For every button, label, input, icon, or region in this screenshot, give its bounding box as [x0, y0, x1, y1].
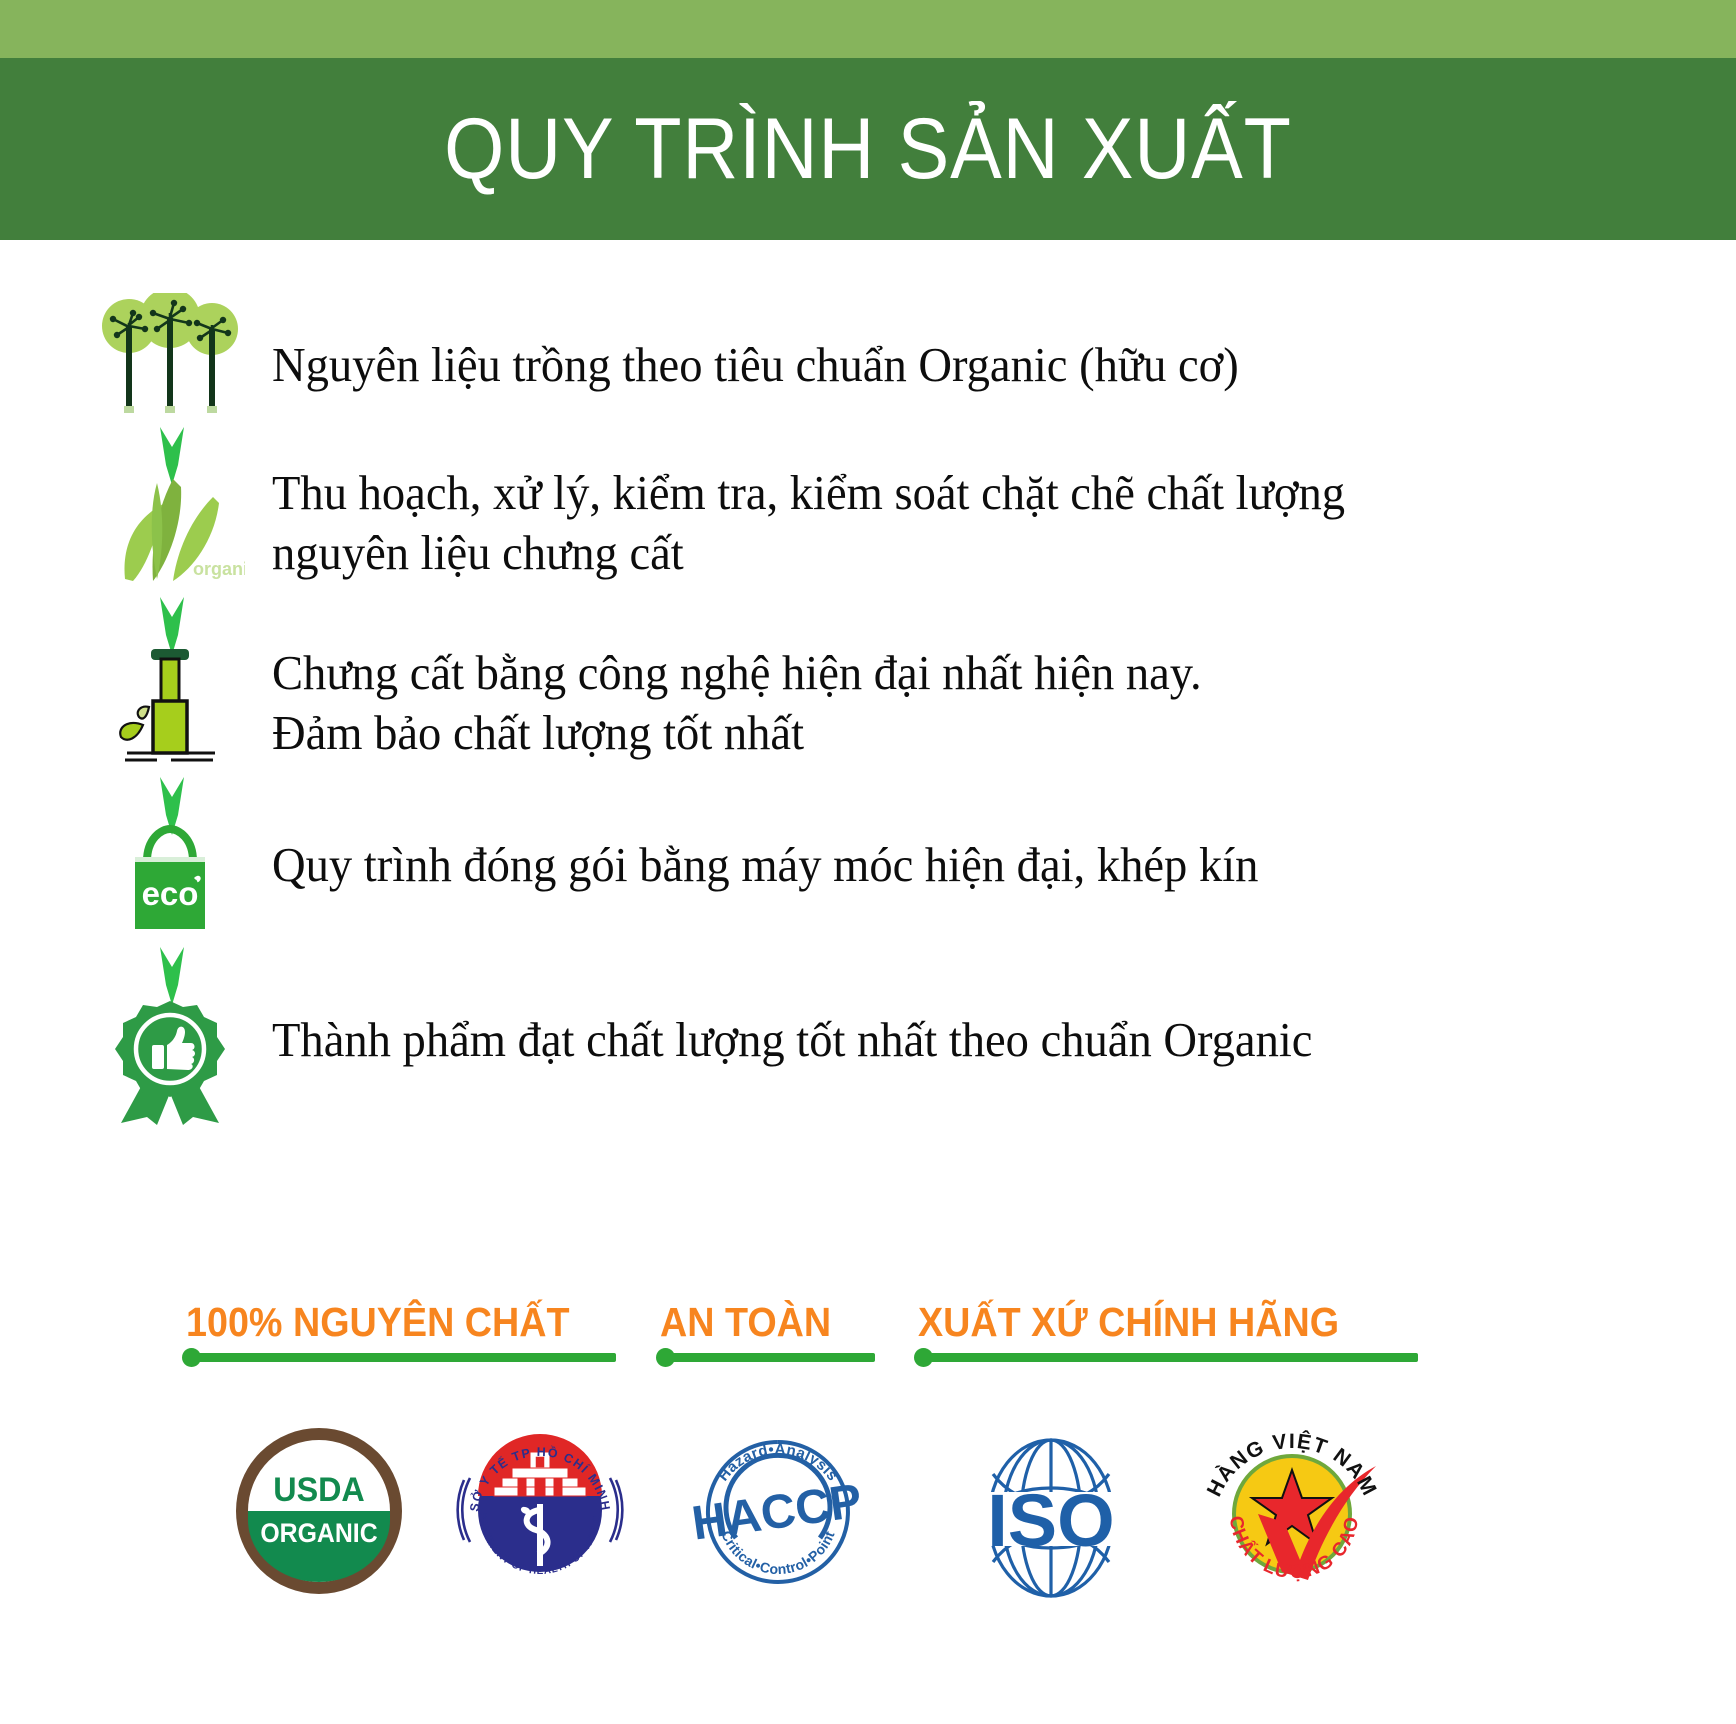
feature-item-3: XUẤT XỨ CHÍNH HÃNG	[918, 1300, 1418, 1362]
feature-label-2: AN TOÀN	[660, 1300, 858, 1344]
haccp-logo: Hazard•Analysis Critical•Control•Point H…	[692, 1426, 864, 1598]
step-3-text: Chưng cất bằng công nghệ hiện đại nhất h…	[272, 643, 1202, 763]
feature-label-1: 100% NGUYÊN CHẤT	[186, 1300, 582, 1344]
eco-bag-label: eco	[142, 875, 199, 912]
step-5-text: Thành phẩm đạt chất lượng tốt nhất theo …	[272, 1010, 1312, 1070]
certification-logos: USDA ORGANIC	[0, 1420, 1736, 1670]
step-2-text: Thu hoạch, xử lý, kiểm tra, kiểm soát ch…	[272, 463, 1345, 583]
iso-logo: ISO	[962, 1434, 1140, 1602]
step-4-icon-eco-bag-icon: eco	[85, 823, 255, 933]
feature-highlights: 100% NGUYÊN CHẤT AN TOÀN XUẤT XỨ CHÍNH H…	[0, 1300, 1736, 1390]
header-top-band	[0, 0, 1736, 58]
feature-rule-1	[186, 1353, 616, 1362]
step-3-icon-oil-bottle-icon	[85, 645, 255, 770]
step-1-icon-three-trees-icon	[85, 293, 255, 418]
hang-viet-nam-chat-luong-cao-logo: HÀNG VIỆT NAM CHẤT LƯỢNG CAO	[1196, 1422, 1396, 1598]
iso-center-label: ISO	[987, 1479, 1114, 1562]
process-step-list: Nguyên liệu trồng theo tiêu chuẩn Organi…	[0, 245, 1736, 1165]
haccp-center-label: HACCP	[692, 1474, 864, 1550]
organic-leaf-label: organic	[193, 559, 245, 579]
step-4-text: Quy trình đóng gói bằng máy móc hiện đại…	[272, 835, 1258, 895]
feature-rule-2	[660, 1353, 875, 1362]
page-title: QUY TRÌNH SẢN XUẤT	[87, 58, 1649, 240]
step-2-icon-organic-leaves-icon: organic	[85, 467, 255, 585]
feature-item-2: AN TOÀN	[660, 1300, 875, 1362]
feature-label-3: XUẤT XỨ CHÍNH HÃNG	[918, 1300, 1378, 1344]
feature-item-1: 100% NGUYÊN CHẤT	[186, 1300, 616, 1362]
step-5-icon-quality-badge-thumbs-up-icon	[85, 997, 255, 1125]
feature-rule-3	[918, 1353, 1418, 1362]
department-of-health-hcm-logo: SỞ Y TẾ TP HỒ CHÍ MINH DEPARTMENT OF HEA…	[456, 1426, 624, 1594]
step-1-text: Nguyên liệu trồng theo tiêu chuẩn Organi…	[272, 335, 1239, 395]
usda-top-label: USDA	[240, 1471, 398, 1510]
usda-organic-logo: USDA ORGANIC	[236, 1428, 402, 1594]
usda-bottom-label: ORGANIC	[243, 1518, 396, 1549]
